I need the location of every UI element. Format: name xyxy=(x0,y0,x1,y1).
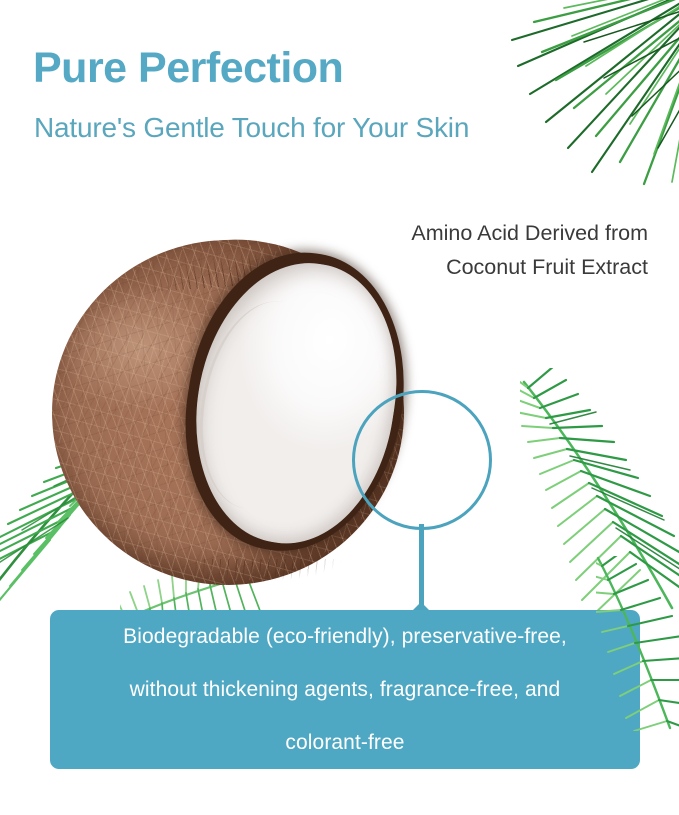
page-subtitle: Nature's Gentle Touch for Your Skin xyxy=(34,112,469,144)
palm-frond-right-front-icon xyxy=(596,556,679,731)
palm-frond-top-right-icon xyxy=(494,0,679,192)
coconut-image xyxy=(52,240,404,585)
callout-circle xyxy=(352,390,492,530)
claims-line-2: without thickening agents, fragrance-fre… xyxy=(130,663,561,716)
claims-line-3: colorant-free xyxy=(285,716,404,769)
coconut-bottom-fringe xyxy=(162,559,352,589)
claims-line-1: Biodegradable (eco-friendly), preservati… xyxy=(123,610,567,663)
ingredient-descriptor: Amino Acid Derived from Coconut Fruit Ex… xyxy=(308,216,648,284)
page-title: Pure Perfection xyxy=(33,44,343,93)
callout-stem xyxy=(419,524,424,614)
promo-banner: Pure Perfection Nature's Gentle Touch fo… xyxy=(0,0,679,815)
ingredient-descriptor-line-2: Coconut Fruit Extract xyxy=(308,250,648,284)
claims-panel: Biodegradable (eco-friendly), preservati… xyxy=(50,610,640,769)
ingredient-descriptor-line-1: Amino Acid Derived from xyxy=(308,216,648,250)
